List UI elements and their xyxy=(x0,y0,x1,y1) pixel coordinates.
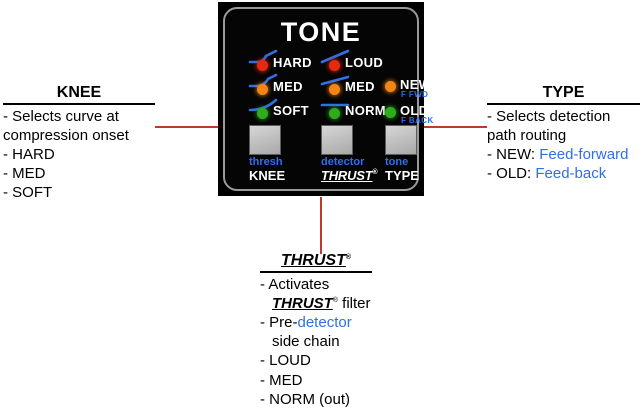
knee-button-group: thresh KNEE xyxy=(249,125,285,182)
thrust-led-column: LOUD MED NORM xyxy=(321,54,391,126)
thresh-knee-button[interactable] xyxy=(249,125,281,155)
callout-thrust: THRUST® - Activates THRUST® filter - Pre… xyxy=(260,252,372,409)
registered-mark-icon: ® xyxy=(346,254,351,262)
type-button-group: tone TYPE xyxy=(385,125,419,182)
callout-thrust-line-7: - NORM (out) xyxy=(260,390,420,409)
registered-mark-icon: ® xyxy=(373,169,378,176)
callout-thrust-line-3-prefix: - Pre- xyxy=(260,314,298,331)
callout-type-body: - Selects detection path routing - NEW: … xyxy=(487,107,640,184)
thrust-wordmark: THRUST xyxy=(272,295,333,312)
callout-type-old-value: Feed-back xyxy=(535,165,606,182)
connector-line-type xyxy=(424,126,487,128)
callout-type-line-1: - Selects detection xyxy=(487,107,640,126)
type-led-column: NEW F FWD OLD F BACK xyxy=(385,78,455,130)
callout-knee-line-5: - SOFT xyxy=(3,183,155,202)
callout-type-old-prefix: - OLD: xyxy=(487,165,535,182)
led-row-new: NEW F FWD xyxy=(385,78,455,104)
knee-led-column: HARD MED SOFT xyxy=(249,54,319,126)
callout-thrust-heading: THRUST® xyxy=(260,252,372,273)
led-label-soft: SOFT xyxy=(273,104,309,117)
callout-thrust-line-2: THRUST® filter xyxy=(260,294,420,313)
callout-knee-line-2: compression onset xyxy=(3,126,155,145)
callout-type-line-new: - NEW: Feed-forward xyxy=(487,145,640,164)
led-indicator-old xyxy=(385,107,396,118)
callout-thrust-heading-text: THRUST xyxy=(281,252,346,269)
led-label-loud: LOUD xyxy=(345,56,383,69)
panel-title: TONE xyxy=(225,19,417,46)
detector-thrust-button[interactable] xyxy=(321,125,353,155)
callout-knee-heading: KNEE xyxy=(3,84,155,105)
tone-type-button-label: TYPE xyxy=(385,169,419,183)
callout-type: TYPE - Selects detection path routing - … xyxy=(487,84,640,183)
led-indicator-hard xyxy=(257,60,268,71)
callout-type-heading: TYPE xyxy=(487,84,640,105)
led-label-hard: HARD xyxy=(273,56,312,69)
led-indicator-med-knee xyxy=(257,84,268,95)
thrust-wordmark: THRUST xyxy=(321,168,373,183)
callout-type-new-prefix: - NEW: xyxy=(487,146,539,163)
callout-thrust-line-2-tail: filter xyxy=(338,295,371,312)
thresh-knee-button-label: KNEE xyxy=(249,169,285,183)
panel-face: TONE HARD MED SO xyxy=(223,7,419,191)
tone-type-button[interactable] xyxy=(385,125,417,155)
led-row-norm: NORM xyxy=(321,102,391,126)
led-label-med-thrust: MED xyxy=(345,80,375,93)
led-indicator-new xyxy=(385,81,396,92)
connector-line-knee xyxy=(155,126,218,128)
detector-thrust-button-label: THRUST® xyxy=(321,169,378,183)
callout-thrust-line-5: - LOUD xyxy=(260,351,420,370)
callout-type-line-2: path routing xyxy=(487,126,640,145)
led-row-soft: SOFT xyxy=(249,102,319,126)
callout-thrust-line-4: side chain xyxy=(260,332,420,351)
led-indicator-soft xyxy=(257,108,268,119)
led-indicator-med-thrust xyxy=(329,84,340,95)
callout-knee-line-3: - HARD xyxy=(3,145,155,164)
callout-thrust-body: - Activates THRUST® filter - Pre-detecto… xyxy=(260,275,420,409)
callout-type-new-value: Feed-forward xyxy=(539,146,628,163)
led-sublabel-old: F BACK xyxy=(401,117,434,125)
led-label-med-knee: MED xyxy=(273,80,303,93)
callout-knee-line-4: - MED xyxy=(3,164,155,183)
callout-knee: KNEE - Selects curve at compression onse… xyxy=(3,84,155,203)
callout-thrust-line-1: - Activates xyxy=(260,275,420,294)
tone-type-button-sublabel: tone xyxy=(385,157,419,169)
thrust-button-group: detector THRUST® xyxy=(321,125,378,182)
led-indicator-loud xyxy=(329,60,340,71)
callout-thrust-line-6: - MED xyxy=(260,371,420,390)
callout-thrust-detector-word: detector xyxy=(298,314,352,331)
callout-knee-line-1: - Selects curve at xyxy=(3,107,155,126)
led-sublabel-new: F FWD xyxy=(401,91,428,99)
tone-control-panel: TONE HARD MED SO xyxy=(218,2,424,196)
led-indicator-norm xyxy=(329,108,340,119)
callout-thrust-line-3: - Pre-detector xyxy=(260,313,420,332)
led-label-norm: NORM xyxy=(345,104,386,117)
connector-line-thrust xyxy=(320,197,322,254)
callout-knee-body: - Selects curve at compression onset - H… xyxy=(3,107,155,203)
thresh-knee-button-sublabel: thresh xyxy=(249,157,285,169)
callout-type-line-old: - OLD: Feed-back xyxy=(487,164,640,183)
